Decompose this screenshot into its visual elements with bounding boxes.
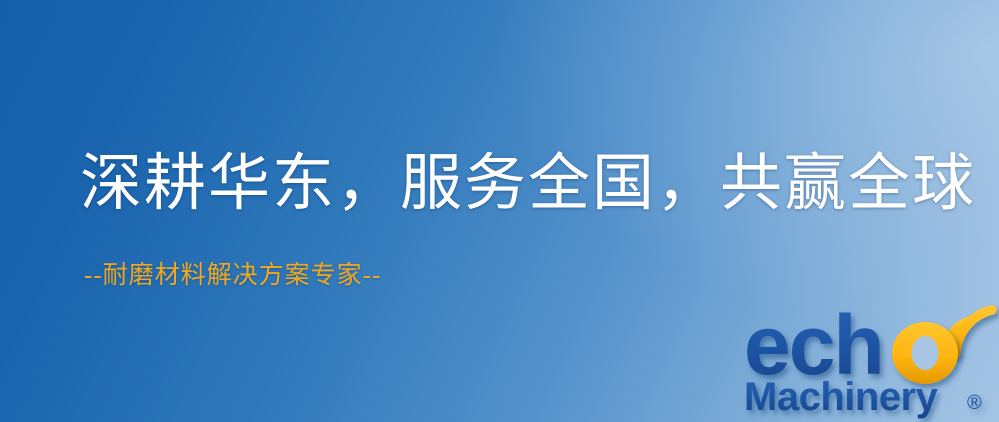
svg-text:®: ®: [967, 392, 982, 414]
logo-artwork: ech Machinery ®: [742, 296, 999, 422]
page-title: 深耕华东，服务全国，共赢全球: [80, 152, 976, 217]
page-subtitle: --耐磨材料解决方案专家--: [84, 262, 381, 290]
svg-text:Machinery: Machinery: [744, 375, 939, 419]
hero-banner: 深耕华东，服务全国，共赢全球 --耐磨材料解决方案专家--: [0, 0, 999, 422]
logo-tagline: Machinery ®: [744, 375, 982, 419]
echo-machinery-logo[interactable]: ech Machinery ®: [742, 296, 999, 422]
